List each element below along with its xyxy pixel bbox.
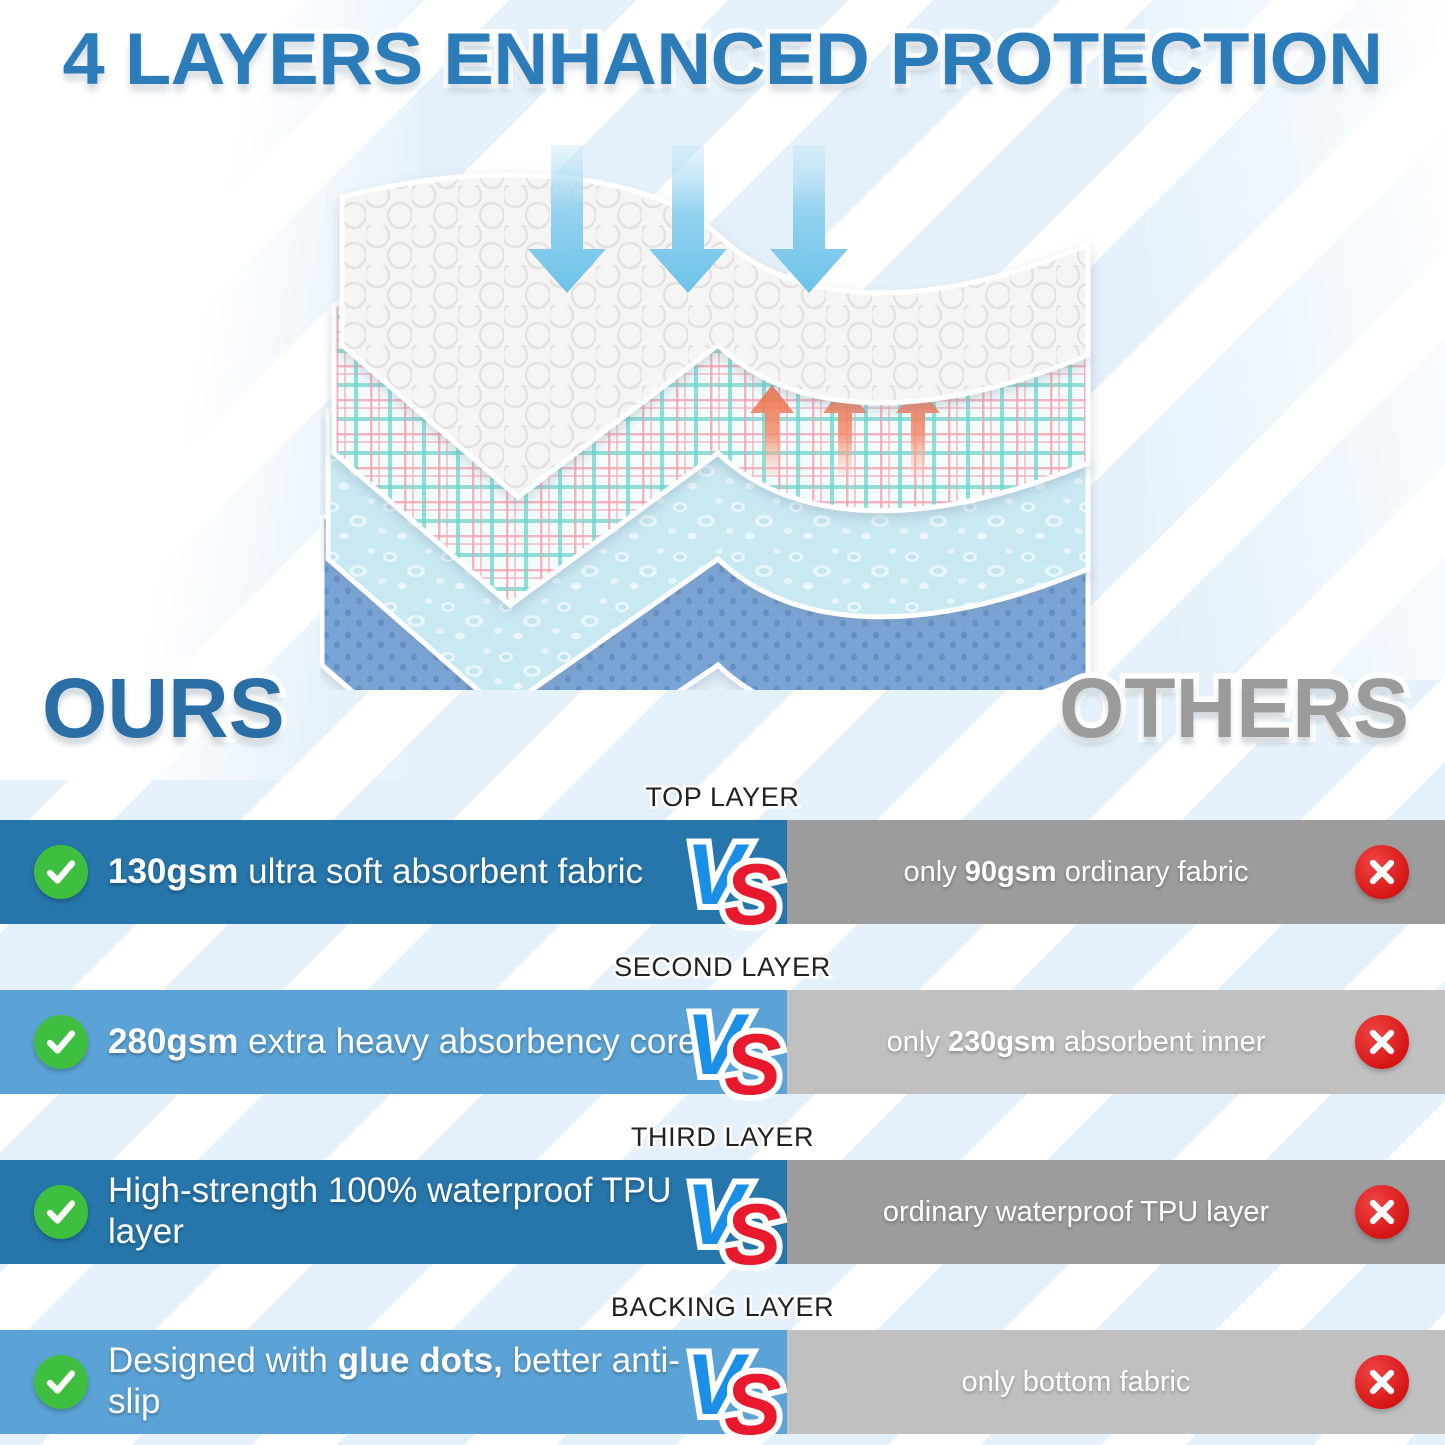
layer-label-2: SECOND LAYER bbox=[0, 952, 1445, 983]
check-icon bbox=[34, 845, 88, 899]
layer-label-1: TOP LAYER bbox=[0, 782, 1445, 813]
comparison-row: 280gsm extra heavy absorbency coreonly 2… bbox=[0, 990, 1445, 1094]
cross-icon bbox=[1355, 1185, 1409, 1239]
ours-cell: Designed with glue dots, better anti-sli… bbox=[0, 1330, 787, 1434]
ours-feature-text: High-strength 100% waterproof TPU layer bbox=[108, 1171, 708, 1252]
comparison-row: High-strength 100% waterproof TPU layero… bbox=[0, 1160, 1445, 1264]
cross-icon bbox=[1355, 1355, 1409, 1409]
heading-others: OTHERS bbox=[1059, 660, 1409, 757]
check-icon bbox=[34, 1355, 88, 1409]
others-feature-text: ordinary waterproof TPU layer bbox=[807, 1195, 1355, 1230]
others-cell: ordinary waterproof TPU layer bbox=[787, 1160, 1445, 1264]
layered-fabric-illustration bbox=[320, 145, 1110, 690]
ours-cell: High-strength 100% waterproof TPU layer bbox=[0, 1160, 787, 1264]
heading-ours: OURS bbox=[42, 660, 285, 757]
others-cell: only 90gsm ordinary fabric bbox=[787, 820, 1445, 924]
ours-feature-text: 280gsm extra heavy absorbency core bbox=[108, 1022, 698, 1063]
ours-feature-text: 130gsm ultra soft absorbent fabric bbox=[108, 852, 643, 893]
check-icon bbox=[34, 1185, 88, 1239]
ours-cell: 280gsm extra heavy absorbency core bbox=[0, 990, 787, 1094]
others-feature-text: only bottom fabric bbox=[807, 1365, 1355, 1400]
layer-label-4: BACKING LAYER bbox=[0, 1292, 1445, 1323]
layer-label-3: THIRD LAYER bbox=[0, 1122, 1445, 1153]
cross-icon bbox=[1355, 1015, 1409, 1069]
page-title: 4 LAYERS ENHANCED PROTECTION bbox=[0, 18, 1445, 101]
absorption-down-arrows bbox=[528, 145, 848, 293]
comparison-row: 130gsm ultra soft absorbent fabriconly 9… bbox=[0, 820, 1445, 924]
infographic-page: 4 LAYERS ENHANCED PROTECTION bbox=[0, 0, 1445, 1445]
cross-icon bbox=[1355, 845, 1409, 899]
others-cell: only 230gsm absorbent inner bbox=[787, 990, 1445, 1094]
check-icon bbox=[34, 1015, 88, 1069]
ours-cell: 130gsm ultra soft absorbent fabric bbox=[0, 820, 787, 924]
background-fade-right bbox=[1145, 0, 1445, 680]
others-feature-text: only 90gsm ordinary fabric bbox=[807, 855, 1355, 890]
ours-feature-text: Designed with glue dots, better anti-sli… bbox=[108, 1341, 708, 1422]
others-feature-text: only 230gsm absorbent inner bbox=[807, 1025, 1355, 1060]
others-cell: only bottom fabric bbox=[787, 1330, 1445, 1434]
comparison-row: Designed with glue dots, better anti-sli… bbox=[0, 1330, 1445, 1434]
